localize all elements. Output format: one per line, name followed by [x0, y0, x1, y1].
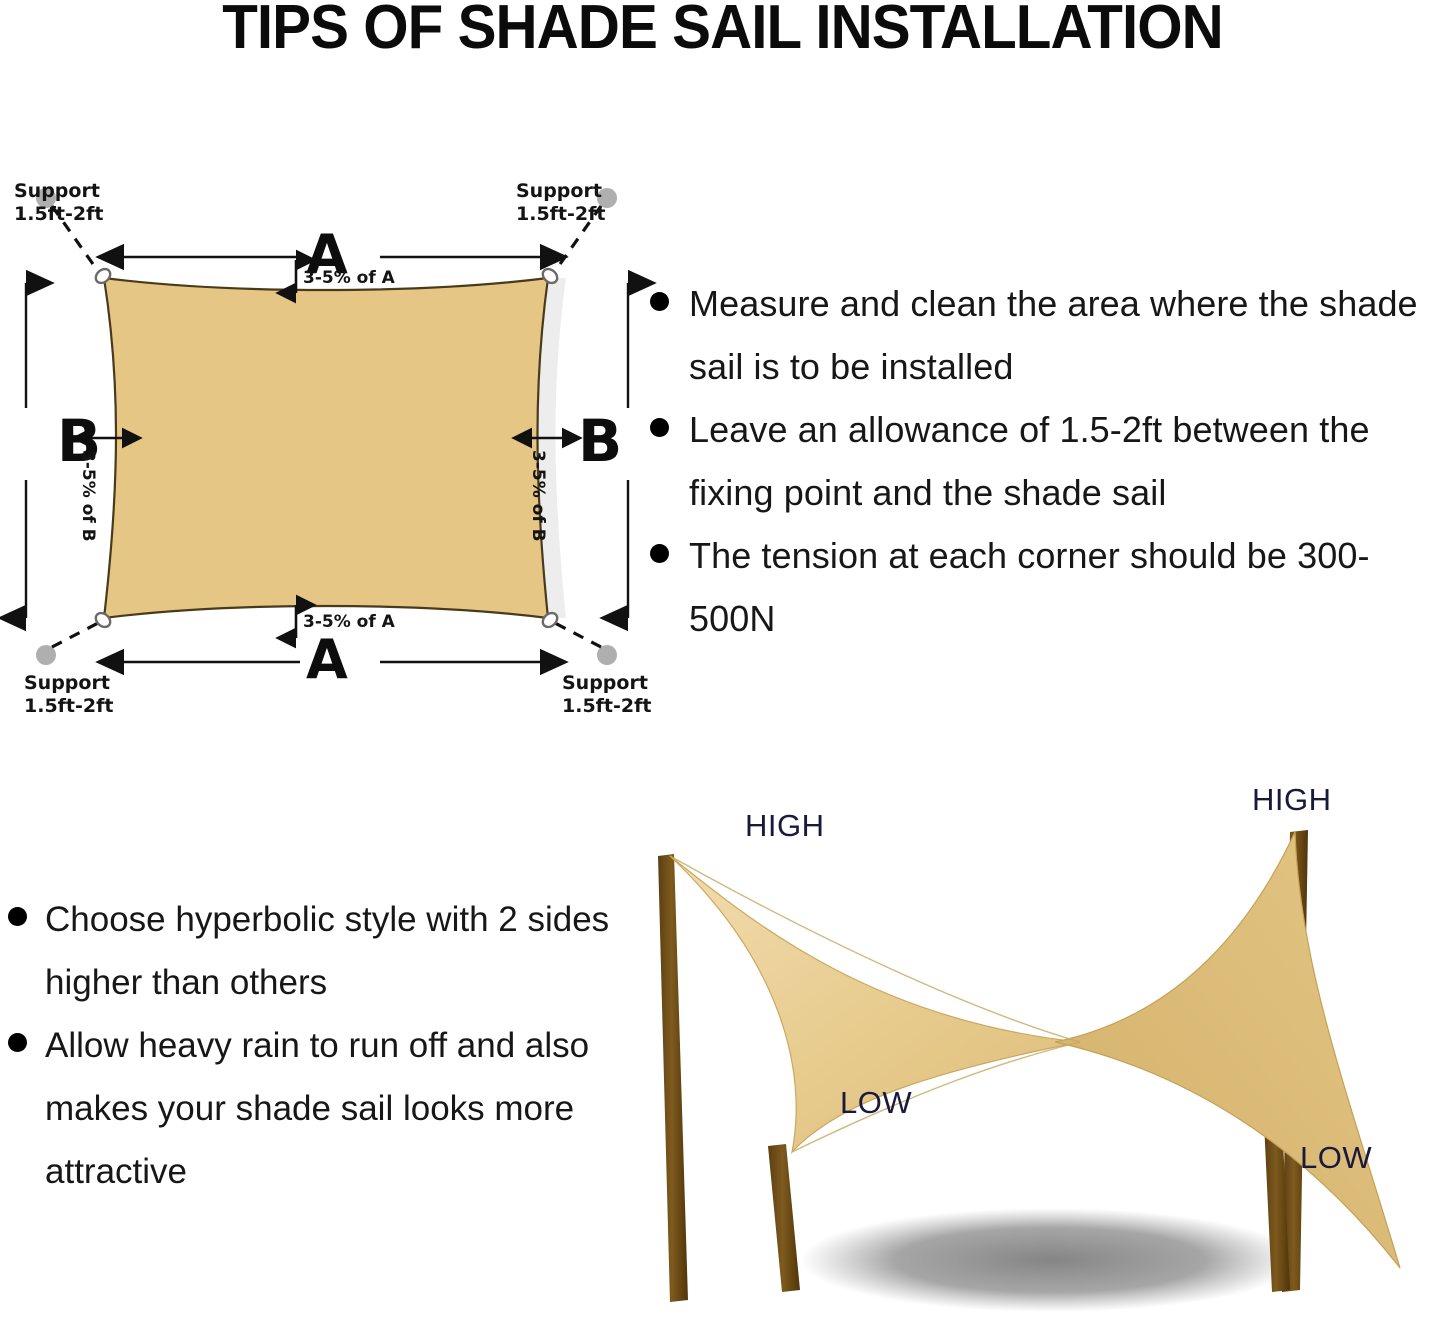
- support-label-bottom-right: Support 1.5ft-2ft: [562, 672, 651, 718]
- post-low-left: [768, 1144, 800, 1292]
- list-item: Choose hyperbolic style with 2 sides hig…: [8, 888, 628, 1014]
- tips-list-hyperbolic: Choose hyperbolic style with 2 sides hig…: [8, 888, 628, 1203]
- bullet-dot-icon: [650, 544, 669, 563]
- list-item-text: Leave an allowance of 1.5-2ft between th…: [689, 398, 1445, 524]
- label-low-right: LOW: [1300, 1140, 1372, 1176]
- label-low-left: LOW: [840, 1085, 912, 1121]
- support-label-bottom-right-line2: 1.5ft-2ft: [562, 695, 651, 718]
- list-item: Measure and clean the area where the sha…: [650, 272, 1445, 398]
- support-label-top-left-line1: Support: [14, 180, 103, 203]
- list-item-text: The tension at each corner should be 300…: [689, 524, 1445, 650]
- list-item: The tension at each corner should be 300…: [650, 524, 1445, 650]
- post-high-left: [658, 854, 688, 1302]
- list-item: Allow heavy rain to run off and also mak…: [8, 1014, 628, 1203]
- list-item-text: Measure and clean the area where the sha…: [689, 272, 1445, 398]
- label-high-right: HIGH: [1252, 782, 1332, 818]
- curve-label-left: 3-5% of B: [78, 450, 98, 542]
- bullet-dot-icon: [8, 1033, 27, 1052]
- shade-sail-shape: [104, 278, 548, 618]
- sail-panel-right: [1055, 832, 1400, 1268]
- page-title: TIPS OF SHADE SAIL INSTALLATION: [43, 0, 1401, 60]
- infographic-page: TIPS OF SHADE SAIL INSTALLATION: [0, 0, 1445, 1319]
- list-item: Leave an allowance of 1.5-2ft between th…: [650, 398, 1445, 524]
- support-label-bottom-left: Support 1.5ft-2ft: [24, 672, 113, 718]
- ground-shadow: [800, 1208, 1300, 1312]
- support-label-top-right: Support 1.5ft-2ft: [516, 180, 605, 226]
- tie-line-bottom-left: [52, 622, 100, 647]
- curve-label-right: 3-5% of B: [528, 450, 548, 542]
- support-label-top-left-line2: 1.5ft-2ft: [14, 203, 103, 226]
- curve-label-bottom: 3-5% of A: [303, 612, 395, 632]
- label-high-left: HIGH: [745, 808, 825, 844]
- dim-letter-b-right: B: [578, 412, 622, 470]
- support-label-top-right-line2: 1.5ft-2ft: [516, 203, 605, 226]
- hyperbolic-sail-diagram: HIGH HIGH LOW LOW: [640, 770, 1445, 1319]
- support-label-bottom-right-line1: Support: [562, 672, 651, 695]
- curve-label-top: 3-5% of A: [303, 268, 395, 288]
- tips-list-installation: Measure and clean the area where the sha…: [650, 272, 1445, 650]
- list-item-text: Allow heavy rain to run off and also mak…: [45, 1014, 628, 1203]
- support-label-bottom-left-line2: 1.5ft-2ft: [24, 695, 113, 718]
- dim-letter-a-bottom: A: [306, 633, 348, 687]
- tie-line-bottom-right: [553, 622, 601, 647]
- support-label-top-right-line1: Support: [516, 180, 605, 203]
- support-label-top-left: Support 1.5ft-2ft: [14, 180, 103, 226]
- bullet-dot-icon: [8, 907, 27, 926]
- list-item-text: Choose hyperbolic style with 2 sides hig…: [45, 888, 628, 1014]
- rect-sail-diagram: Support 1.5ft-2ft Support 1.5ft-2ft Supp…: [0, 150, 680, 740]
- bullet-dot-icon: [650, 292, 669, 311]
- bullet-dot-icon: [650, 418, 669, 437]
- support-label-bottom-left-line1: Support: [24, 672, 113, 695]
